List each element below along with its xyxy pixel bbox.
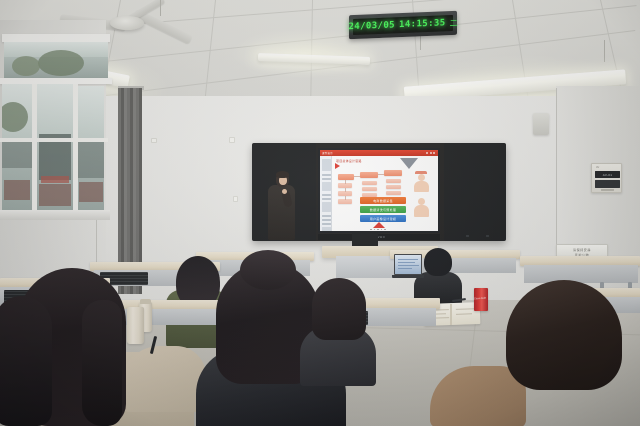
slide-cta-bar-2: 数据清洗与预处理	[360, 206, 406, 213]
control-panel-keypad[interactable]	[595, 180, 620, 188]
wall-outlet[interactable]	[233, 196, 238, 202]
instructor-hand	[282, 189, 287, 194]
room-sign-line1: 请保持安静	[573, 248, 591, 252]
slide-figure-head	[418, 174, 425, 181]
coca-cola-can: Coca-Cola	[474, 288, 488, 311]
student-hair-bun	[240, 250, 296, 290]
student-hair-strand	[82, 300, 122, 426]
coke-label-text: Coca-Cola	[474, 297, 486, 301]
clock-display: 24/03/05 14:15:35 二	[353, 15, 453, 35]
slide-bullet-marker	[335, 163, 340, 169]
clock-time: 14:15:35	[399, 18, 446, 30]
slide-cta-bar-3: 用户画像设计建模	[360, 215, 406, 222]
slide-app-titlebar: 课件演示	[320, 150, 438, 156]
slide-bottom-marker	[373, 222, 385, 228]
classroom-scene: AV AV-01 请保持安静 爱护公物	[0, 0, 640, 426]
student-laptop-base[interactable]	[392, 275, 424, 278]
slide-cta-bar-1: 电商数据采集	[360, 197, 406, 204]
wall-control-panel[interactable]: AV AV-01	[591, 163, 622, 193]
slide-accent-triangle	[400, 158, 418, 169]
student-partial-left-hair	[0, 296, 52, 426]
ceiling-fan-hub	[110, 16, 144, 30]
slide-figure-head	[418, 198, 425, 205]
student-hair	[312, 278, 366, 340]
control-panel-foot	[601, 189, 614, 191]
window-pane-left	[2, 84, 32, 212]
slide-page-dots[interactable]	[370, 229, 386, 231]
notebook-spine	[450, 304, 452, 325]
smartboard-ir-sensor	[466, 235, 469, 237]
window-frame-upper	[2, 34, 110, 42]
slide-sidebar-panel[interactable]	[320, 156, 332, 231]
student-hair	[424, 248, 452, 276]
clock-date: 24/03/05	[348, 20, 395, 32]
control-panel-screen-text: AV-01	[603, 173, 612, 177]
instructor-hair	[276, 171, 289, 178]
student-laptop-screen[interactable]	[394, 254, 422, 275]
wall-switch[interactable]	[229, 137, 235, 143]
wall-speaker	[533, 113, 549, 135]
blackboard-wing-right	[444, 143, 506, 241]
student-desk-front	[524, 265, 638, 283]
thermos-cap	[140, 299, 151, 304]
student-hair	[506, 280, 622, 390]
window-sill	[0, 210, 110, 220]
student-shoulder	[120, 346, 206, 412]
smartboard-screen[interactable]: 课件演示 项目总体设计思路	[318, 148, 440, 233]
control-panel-screen: AV-01	[595, 171, 620, 178]
thermos-bottle	[127, 307, 144, 344]
slide-figure-body	[414, 181, 429, 192]
presentation-slide: 课件演示 项目总体设计思路	[320, 150, 438, 231]
window-pane-center	[37, 84, 73, 212]
slide-figure-body	[414, 205, 429, 217]
smartboard-brand-bar: SEEWO	[318, 234, 440, 240]
window-pane-right	[78, 86, 104, 210]
slide-heading: 项目总体设计思路	[336, 159, 362, 163]
smartboard-ir-sensor	[486, 235, 489, 237]
window-pane-transom	[4, 42, 108, 78]
control-panel-caption: AV	[596, 166, 599, 169]
led-wall-clock: 24/03/05 14:15:35 二	[349, 11, 457, 40]
wall-switch[interactable]	[151, 138, 157, 143]
window-controls[interactable]	[426, 152, 435, 154]
slide-app-title: 课件演示	[322, 151, 333, 155]
clock-weekday: 二	[450, 17, 458, 28]
